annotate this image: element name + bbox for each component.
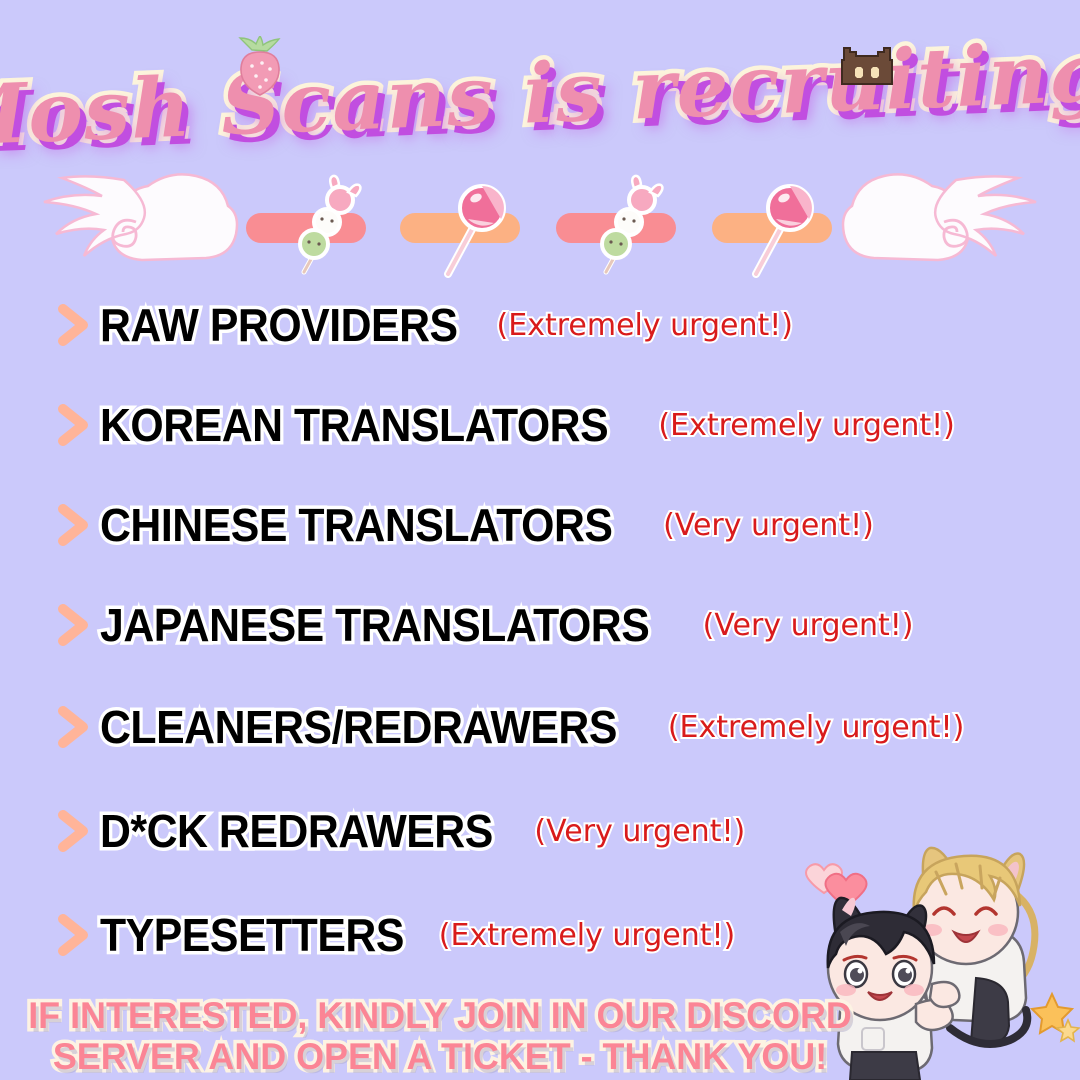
role-urgency: (Extremely urgent!)	[668, 710, 964, 745]
winged-cloud-icon	[840, 160, 1062, 282]
role-urgency: (Very urgent!)	[703, 608, 914, 643]
role-title: D*CK REDRAWERS	[100, 804, 493, 858]
chevron-right-icon	[56, 706, 90, 748]
chevron-right-icon	[56, 604, 90, 646]
role-title: CLEANERS/REDRAWERS	[100, 700, 617, 754]
role-title: CHINESE TRANSLATORS	[100, 498, 612, 552]
role-title: JAPANESE TRANSLATORS	[100, 598, 649, 652]
chevron-right-icon	[56, 504, 90, 546]
dango-skewer-icon	[282, 174, 368, 280]
footer-cta: IF INTERESTED, KINDLY JOIN IN OUR DISCOR…	[13, 995, 867, 1077]
recruitment-poster: Mosh Scans is recruiting!	[0, 0, 1080, 1080]
role-urgency: (Very urgent!)	[534, 814, 745, 849]
list-item[interactable]: D*CK REDRAWERS (Very urgent!)	[56, 802, 745, 860]
winged-cloud-icon	[18, 160, 240, 282]
poster-header: Mosh Scans is recruiting!	[0, 34, 1080, 154]
list-item[interactable]: CLEANERS/REDRAWERS (Extremely urgent!)	[56, 698, 964, 756]
list-item[interactable]: RAW PROVIDERS (Extremely urgent!)	[56, 296, 793, 354]
role-title: KOREAN TRANSLATORS	[100, 398, 608, 452]
list-item[interactable]: KOREAN TRANSLATORS (Extremely urgent!)	[56, 396, 955, 454]
role-urgency: (Extremely urgent!)	[497, 308, 793, 343]
role-title: TYPESETTERS	[100, 908, 404, 962]
strawberry-icon	[232, 36, 288, 96]
page-title: Mosh Scans is recruiting!	[0, 23, 1080, 165]
dango-skewer-icon	[584, 174, 670, 280]
lollipop-icon	[736, 174, 822, 280]
footer-line-1: IF INTERESTED, KINDLY JOIN IN OUR DISCOR…	[13, 995, 867, 1036]
list-item[interactable]: JAPANESE TRANSLATORS (Very urgent!)	[56, 596, 913, 654]
role-urgency: (Extremely urgent!)	[658, 408, 954, 443]
chevron-right-icon	[56, 304, 90, 346]
role-urgency: (Extremely urgent!)	[439, 918, 735, 953]
footer-line-2: SERVER AND OPEN A TICKET - THANK YOU!	[13, 1036, 867, 1077]
chevron-right-icon	[56, 810, 90, 852]
list-item[interactable]: CHINESE TRANSLATORS (Very urgent!)	[56, 496, 874, 554]
chevron-right-icon	[56, 404, 90, 446]
role-title: RAW PROVIDERS	[100, 298, 458, 352]
chevron-right-icon	[56, 914, 90, 956]
list-item[interactable]: TYPESETTERS (Extremely urgent!)	[56, 906, 735, 964]
lollipop-icon	[428, 174, 514, 280]
pixel-cat-icon	[836, 40, 898, 96]
decorative-divider	[0, 160, 1080, 290]
role-urgency: (Very urgent!)	[663, 508, 874, 543]
